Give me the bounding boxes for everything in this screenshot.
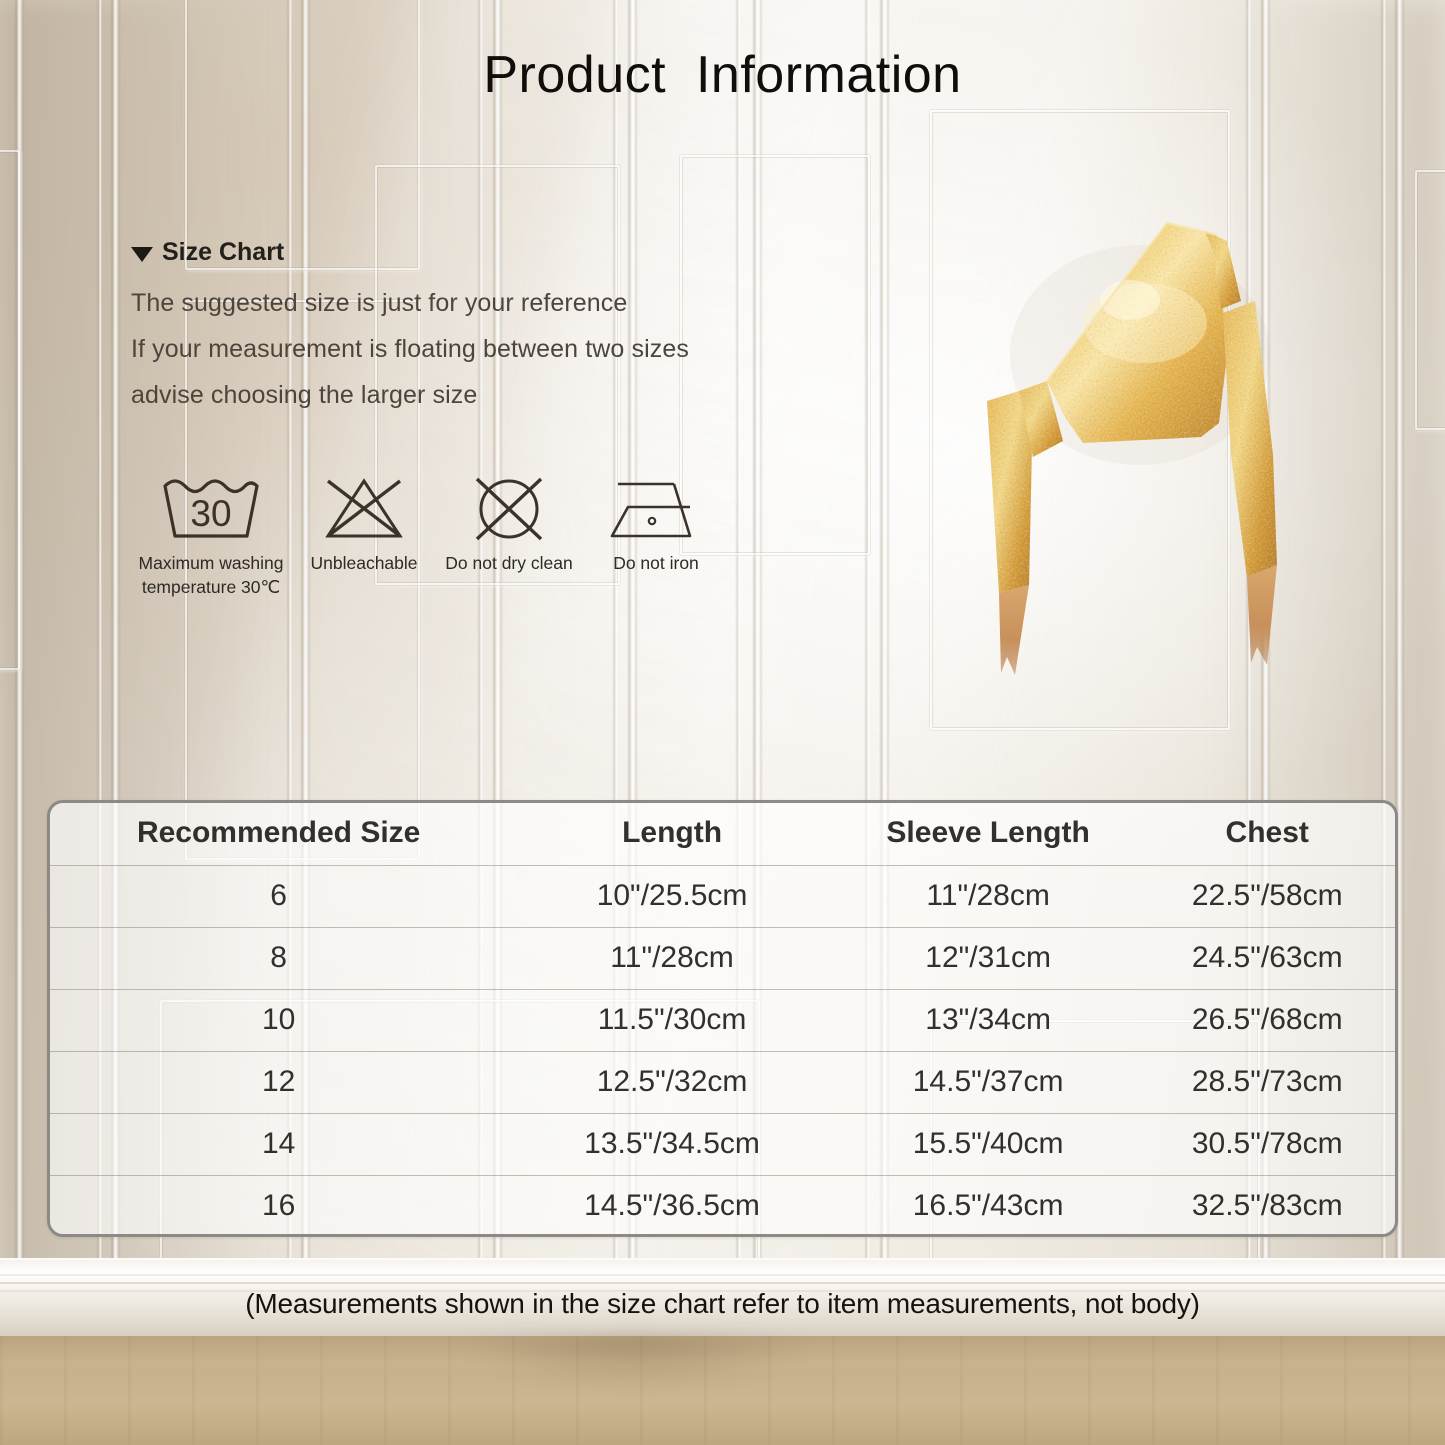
column-header-sleeve-length: Sleeve Length xyxy=(837,803,1140,865)
cell-chest: 30.5"/78cm xyxy=(1139,1113,1395,1175)
wash-temperature-value: 30 xyxy=(190,493,231,534)
care-label: Do not iron xyxy=(613,551,699,575)
table-header-row: Recommended Size Length Sleeve Length Ch… xyxy=(50,803,1395,865)
size-chart-heading[interactable]: Size Chart xyxy=(131,238,891,267)
cell-sleeve-length: 16.5"/43cm xyxy=(837,1175,1140,1237)
table-row: 12 12.5"/32cm 14.5"/37cm 28.5"/73cm xyxy=(50,1051,1395,1113)
wall-panel-moulding xyxy=(0,150,20,670)
care-symbols-row: 30 Maximum washing temperature 30℃ Unble… xyxy=(131,470,731,599)
care-label: Unbleachable xyxy=(310,551,417,575)
cell-size: 10 xyxy=(50,989,507,1051)
size-note-line: advise choosing the larger size xyxy=(131,372,891,418)
cell-chest: 28.5"/73cm xyxy=(1139,1051,1395,1113)
cell-size: 16 xyxy=(50,1175,507,1237)
no-iron-icon xyxy=(604,470,708,544)
floor-reflection xyxy=(420,1336,850,1445)
page-title: Product Information xyxy=(0,45,1445,105)
care-item-bleach: Unbleachable xyxy=(291,470,437,575)
triangle-down-icon xyxy=(131,247,153,262)
cell-chest: 22.5"/58cm xyxy=(1139,865,1395,927)
no-dry-clean-icon xyxy=(468,470,550,544)
wash-tub-30-icon: 30 xyxy=(159,470,263,544)
left-fringe xyxy=(999,585,1029,675)
product-photo xyxy=(955,205,1325,705)
column-header-chest: Chest xyxy=(1139,803,1395,865)
cell-length: 12.5"/32cm xyxy=(507,1051,837,1113)
cell-size: 12 xyxy=(50,1051,507,1113)
product-information-page: Product Information Size Chart The sugge… xyxy=(0,0,1445,1445)
table-row: 10 11.5"/30cm 13"/34cm 26.5"/68cm xyxy=(50,989,1395,1051)
cell-chest: 24.5"/63cm xyxy=(1139,927,1395,989)
care-item-dryclean: Do not dry clean xyxy=(437,470,581,575)
table-row: 16 14.5"/36.5cm 16.5"/43cm 32.5"/83cm xyxy=(50,1175,1395,1237)
size-note-line: If your measurement is floating between … xyxy=(131,326,891,372)
size-chart-table: Recommended Size Length Sleeve Length Ch… xyxy=(47,800,1398,1237)
cell-sleeve-length: 14.5"/37cm xyxy=(837,1051,1140,1113)
cell-length: 14.5"/36.5cm xyxy=(507,1175,837,1237)
care-label: Do not dry clean xyxy=(445,551,572,575)
wall-panel-moulding xyxy=(1415,170,1445,430)
cell-sleeve-length: 11"/28cm xyxy=(837,865,1140,927)
cell-size: 14 xyxy=(50,1113,507,1175)
measurement-disclaimer: (Measurements shown in the size chart re… xyxy=(0,1288,1445,1320)
care-label: Maximum washing temperature 30℃ xyxy=(139,551,284,599)
column-header-length: Length xyxy=(507,803,837,865)
size-note-line: The suggested size is just for your refe… xyxy=(131,280,891,326)
cell-sleeve-length: 12"/31cm xyxy=(837,927,1140,989)
table-row: 8 11"/28cm 12"/31cm 24.5"/63cm xyxy=(50,927,1395,989)
cell-sleeve-length: 13"/34cm xyxy=(837,989,1140,1051)
no-bleach-icon xyxy=(321,470,407,544)
care-item-wash: 30 Maximum washing temperature 30℃ xyxy=(131,470,291,599)
cell-length: 10"/25.5cm xyxy=(507,865,837,927)
size-chart-heading-label: Size Chart xyxy=(162,238,284,267)
cell-sleeve-length: 15.5"/40cm xyxy=(837,1113,1140,1175)
cell-length: 11"/28cm xyxy=(507,927,837,989)
cell-size: 6 xyxy=(50,865,507,927)
cell-chest: 32.5"/83cm xyxy=(1139,1175,1395,1237)
cell-length: 13.5"/34.5cm xyxy=(507,1113,837,1175)
cell-length: 11.5"/30cm xyxy=(507,989,837,1051)
size-chart-section: Size Chart The suggested size is just fo… xyxy=(131,238,891,418)
care-item-iron: Do not iron xyxy=(581,470,731,575)
cell-size: 8 xyxy=(50,927,507,989)
column-header-recommended-size: Recommended Size xyxy=(50,803,507,865)
table-row: 6 10"/25.5cm 11"/28cm 22.5"/58cm xyxy=(50,865,1395,927)
right-fringe xyxy=(1247,565,1277,665)
table-row: 14 13.5"/34.5cm 15.5"/40cm 30.5"/78cm xyxy=(50,1113,1395,1175)
cell-chest: 26.5"/68cm xyxy=(1139,989,1395,1051)
